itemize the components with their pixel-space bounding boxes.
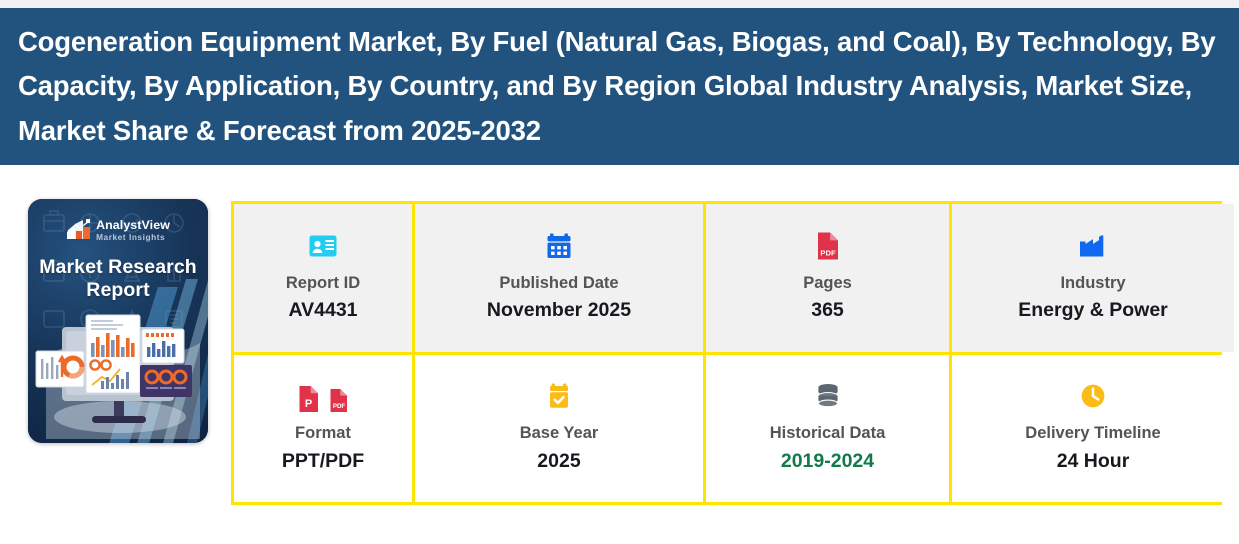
page-title: Cogeneration Equipment Market, By Fuel (…: [0, 20, 1239, 154]
ppt-file-icon: P: [298, 385, 320, 413]
pdf-file-icon: PDF: [329, 388, 349, 413]
info-cell-value: 24 Hour: [1057, 450, 1130, 473]
info-cell-value: November 2025: [487, 299, 631, 322]
cover-logo-text: AnalystView Market Insights: [96, 219, 170, 242]
report-cover-thumbnail[interactable]: AnalystView Market Insights Market Resea…: [28, 199, 208, 443]
info-cell-report-id: Report ID AV4431: [234, 204, 412, 352]
info-cell-delivery-timeline: Delivery Timeline 24 Hour: [952, 355, 1234, 503]
factory-icon: [1079, 229, 1107, 263]
logo-brand-name: AnalystView: [96, 219, 170, 231]
database-stack-icon: [815, 379, 841, 413]
info-cell-industry: Industry Energy & Power: [952, 204, 1234, 352]
info-cell-published-date: Published Date November 2025: [415, 204, 703, 352]
info-cell-pages: PDF Pages 365: [706, 204, 949, 352]
info-cell-label: Base Year: [520, 423, 599, 444]
calendar-check-icon: [547, 379, 571, 413]
id-card-icon: [309, 229, 337, 263]
calendar-icon: [546, 229, 572, 263]
desktop-monitor-charts-illustration: [28, 299, 208, 439]
pdf-file-icon: PDF: [816, 229, 840, 263]
page-top-strip: [0, 0, 1239, 8]
info-cell-value: PPT/PDF: [282, 450, 364, 473]
clock-icon: [1080, 379, 1106, 413]
ppt-and-pdf-file-icon: P PDF: [298, 379, 349, 413]
cover-heading: Market Research Report: [28, 256, 208, 302]
info-cell-label: Report ID: [286, 273, 360, 294]
info-cell-label: Delivery Timeline: [1025, 423, 1160, 444]
info-cell-value: 365: [811, 299, 844, 322]
report-overview-page: Cogeneration Equipment Market, By Fuel (…: [0, 0, 1239, 544]
info-cell-label: Pages: [803, 273, 852, 294]
cover-logo: AnalystView Market Insights: [28, 219, 208, 242]
info-cell-value: Energy & Power: [1018, 299, 1168, 322]
info-cell-base-year: Base Year 2025: [415, 355, 703, 503]
info-cell-label: Format: [295, 423, 351, 444]
info-cell-label: Historical Data: [770, 423, 886, 444]
info-cell-format: P PDF Format PPT/PDF: [234, 355, 412, 503]
info-cell-label: Industry: [1060, 273, 1125, 294]
svg-text:P: P: [304, 398, 311, 410]
info-cell-value: 2025: [537, 450, 580, 473]
report-info-grid: Report ID AV4431: [231, 201, 1222, 505]
logo-tagline: Market Insights: [96, 233, 170, 241]
info-cell-label: Published Date: [499, 273, 618, 294]
analystview-bars-logo-icon: [66, 219, 92, 241]
info-cell-value: AV4431: [288, 299, 357, 322]
report-title-banner: Cogeneration Equipment Market, By Fuel (…: [0, 8, 1239, 165]
info-cell-historical-data: Historical Data 2019-2024: [706, 355, 949, 503]
info-cell-value: 2019-2024: [781, 450, 874, 473]
svg-text:PDF: PDF: [820, 248, 836, 257]
svg-text:PDF: PDF: [332, 403, 345, 410]
report-meta-section: AnalystView Market Insights Market Resea…: [0, 165, 1239, 544]
